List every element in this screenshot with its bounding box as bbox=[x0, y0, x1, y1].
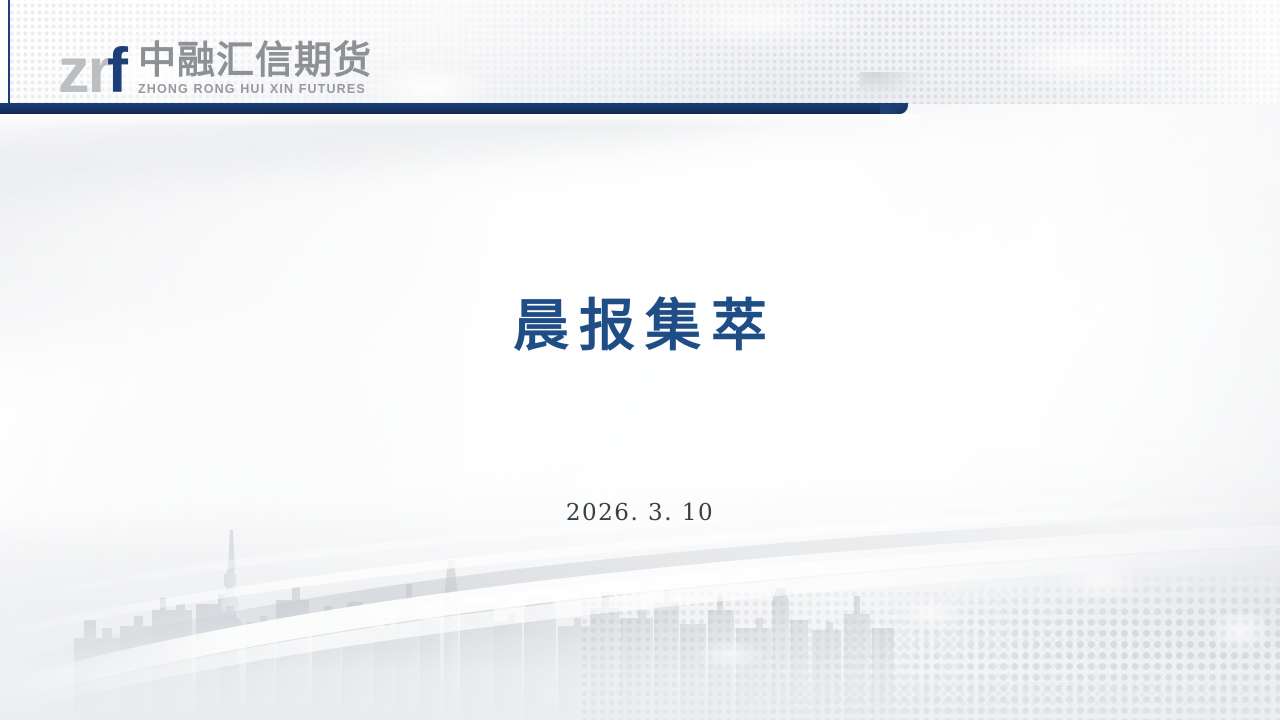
title-slide: zrf 中融汇信期货 ZHONG RONG HUI XIN FUTURES 晨报… bbox=[0, 0, 1280, 720]
header-underglow bbox=[0, 114, 920, 126]
logo-monogram-icon: zrf bbox=[58, 45, 126, 98]
logo-company-name-en: ZHONG RONG HUI XIN FUTURES bbox=[138, 82, 372, 96]
logo-monogram-zr: zr bbox=[58, 45, 110, 98]
logo-monogram-f: f bbox=[107, 45, 126, 98]
header-left-rule bbox=[8, 0, 10, 104]
slide-date: 2026. 3. 10 bbox=[0, 500, 1280, 526]
header-accent-bar bbox=[0, 103, 908, 114]
slide-title: 晨报集萃 bbox=[0, 281, 1280, 362]
logo-wordmark: 中融汇信期货 ZHONG RONG HUI XIN FUTURES bbox=[138, 41, 372, 98]
company-logo: zrf 中融汇信期货 ZHONG RONG HUI XIN FUTURES bbox=[58, 30, 372, 98]
header-accent-bar-tip bbox=[880, 103, 910, 114]
logo-company-name-cn: 中融汇信期货 bbox=[138, 41, 372, 80]
